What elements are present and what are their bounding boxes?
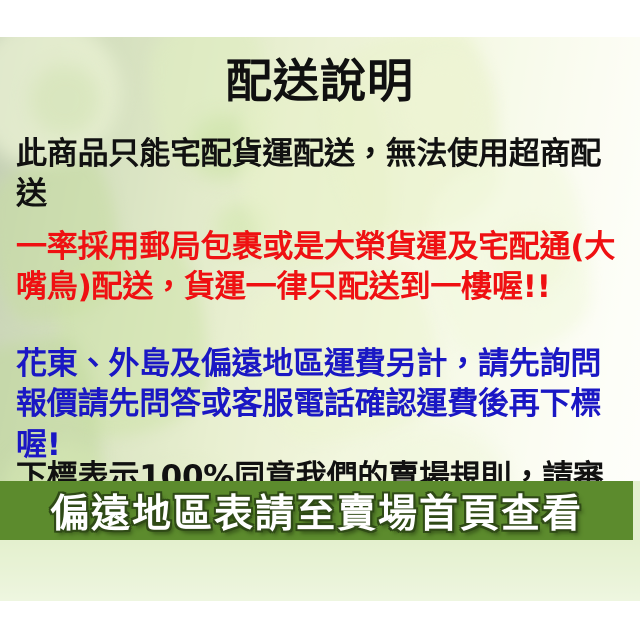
remote-area-banner: 偏遠地區表請至賣場首頁查看 xyxy=(0,481,633,540)
paragraph-remote-area-fee: 花東、外島及偏遠地區運費另計，請先詢問報價請先問答或客服電話確認運費後再下標喔! xyxy=(16,344,628,465)
page-title: 配送說明 xyxy=(0,55,640,107)
footer-light-strip xyxy=(0,540,640,601)
top-white-band xyxy=(0,0,640,37)
bottom-white-band xyxy=(0,601,640,640)
banner-right-edge xyxy=(633,481,640,540)
remote-area-banner-label: 偏遠地區表請至賣場首頁查看 xyxy=(50,483,583,539)
shipping-notice-image: 配送說明 此商品只能宅配貨運配送，無法使用超商配送 一率採用郵局包裹或是大榮貨運… xyxy=(0,0,640,640)
paragraph-carrier-warning: 一率採用郵局包裹或是大榮貨運及宅配通(大嘴鳥)配送，貨運一律只配送到一樓喔!! xyxy=(16,227,628,308)
paragraph-shipping-method: 此商品只能宅配貨運配送，無法使用超商配送 xyxy=(16,134,628,215)
